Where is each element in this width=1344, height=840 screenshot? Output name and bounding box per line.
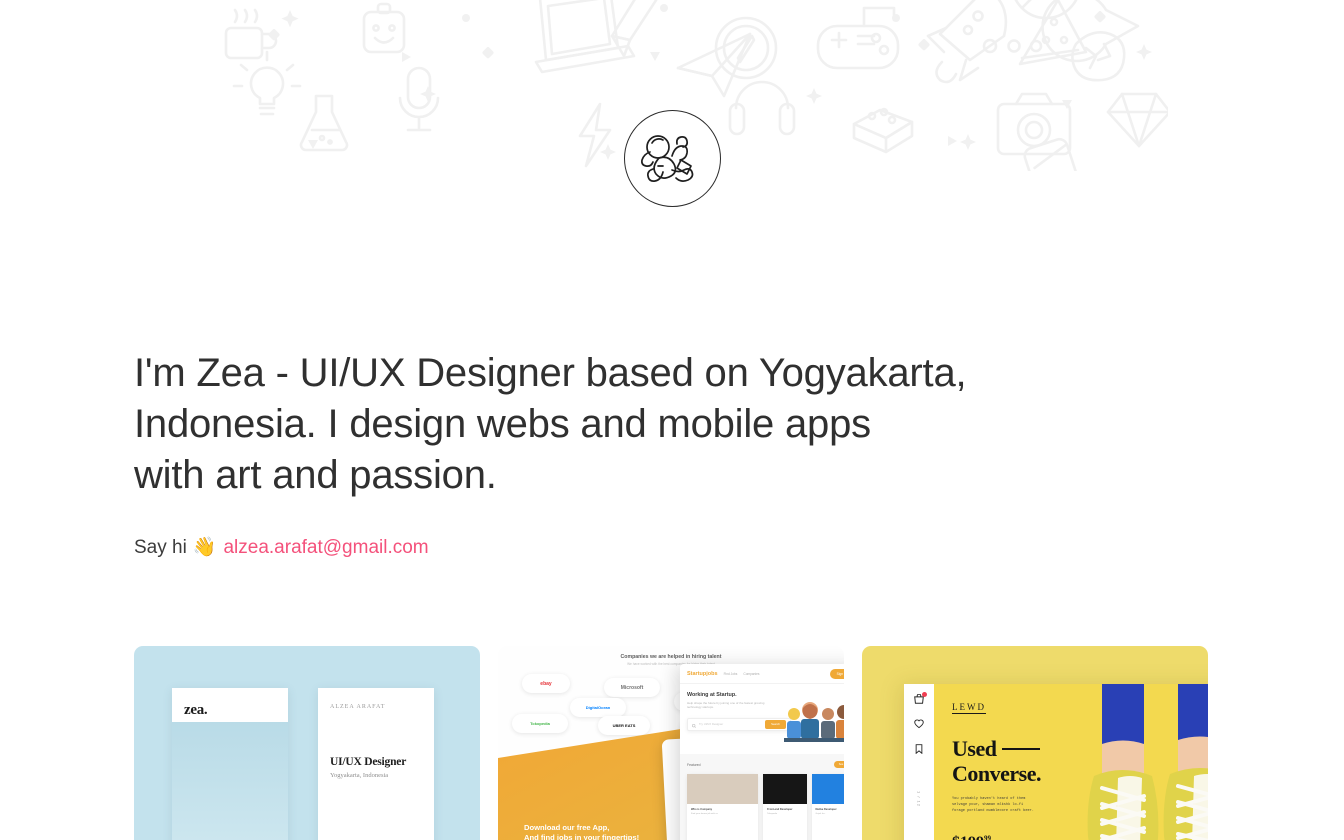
brand-mark: zea. (184, 702, 207, 719)
featured-header: Featured See more (687, 761, 844, 768)
pac-man-icon (1043, 0, 1138, 61)
nav-companies[interactable]: Companies (743, 672, 759, 676)
featured-tile-3[interactable]: Native Developer Gojek Inc. (812, 774, 844, 840)
tile-title: Who is Company (687, 804, 758, 811)
shop-content: LEWD Used Converse. You probably haven't… (934, 684, 1208, 840)
owner-name: ALZEA ARAFAT (330, 704, 385, 710)
business-card-front: zea. (172, 688, 288, 840)
astronaut-icon (639, 126, 705, 192)
lightbulb-icon (234, 52, 300, 114)
jobs-brand: Startupjobs (687, 671, 718, 677)
project-card-startup-jobs[interactable]: Companies we are helped in hiring talent… (498, 646, 844, 840)
tile-thumbnail (687, 774, 758, 804)
page-title: I'm Zea - UI/UX Designer based on Yogyak… (134, 348, 1124, 501)
price-value: $199 (952, 834, 984, 840)
hero-paragraph: Help shape the future by joining one of … (687, 701, 775, 710)
site-navbar: Startupjobs Find Jobs Companies Sign Up (680, 664, 844, 684)
say-hi-label: Say hi (134, 535, 187, 561)
product-headline-2: Converse. (952, 761, 1041, 786)
tile-subtitle: Find your dream job with us (687, 811, 758, 815)
tile-thumbnail (763, 774, 806, 804)
search-placeholder: Try UI/UX Designer (699, 722, 723, 726)
pizza-slice-icon (1020, 0, 1086, 64)
featured-more-button[interactable]: See more (834, 761, 844, 768)
project-card-grid: zea. ALZEA ARAFAT (134, 646, 1210, 840)
product-headline-1: Used (952, 736, 996, 761)
featured-section: Featured See more Who is Company Find yo… (680, 754, 844, 840)
project-card-personal-branding[interactable]: zea. ALZEA ARAFAT (134, 646, 480, 840)
crumpled-paper-icon (1072, 32, 1124, 80)
headline-line-2: with art and passion. (134, 450, 1124, 501)
shop-side-rail: 1 / 12 (904, 684, 934, 840)
email-link[interactable]: alzea.arafat@gmail.com (223, 535, 428, 561)
shopping-bag-icon[interactable] (914, 694, 924, 706)
product-headline: Used Converse. (952, 736, 1072, 786)
companies-heading: Companies we are helped in hiring talent (621, 654, 722, 660)
tile-title: Front-end Developer (763, 804, 806, 811)
headline-rule (1002, 748, 1040, 750)
shop-browser-mockup: 1 / 12 LEWD Used Converse. You probably … (904, 684, 1208, 840)
coffee-mug-icon (226, 10, 276, 58)
compass-icon (716, 18, 776, 78)
owner-role: UI/UX Designer (330, 756, 406, 768)
company-logo-ebay: ebay (522, 674, 570, 693)
headline-line-1: I'm Zea - UI/UX Designer based on Yogyak… (134, 351, 966, 446)
tile-subtitle: Tokopedia (763, 811, 806, 815)
owner-location: Yogyakarta, Indonesia (330, 772, 388, 779)
tile-thumbnail (812, 774, 844, 804)
search-icon (692, 715, 696, 733)
card-photo (172, 722, 288, 840)
laptop-icon (536, 0, 634, 72)
featured-tiles: Who is Company Find your dream job with … (687, 774, 844, 840)
contact-line: Say hi 👋 alzea.arafat@gmail.com (134, 535, 1134, 561)
featured-label: Featured (687, 763, 701, 767)
product-description: You probably haven't heard of them selva… (952, 796, 1036, 814)
product-price: $19999 (952, 834, 991, 840)
app-promo-copy: Download our free App, And find jobs in … (524, 823, 674, 840)
company-logo-ubereats: UBER EATS (598, 716, 650, 735)
app-headline-2: And find jobs in your fingertips! (524, 833, 674, 840)
heart-icon[interactable] (914, 719, 924, 731)
rocket-icon (928, 0, 1006, 82)
featured-tile-1[interactable]: Who is Company Find your dream job with … (687, 774, 758, 840)
intro-section: I'm Zea - UI/UX Designer based on Yogyak… (134, 348, 1134, 561)
lego-head-icon (364, 4, 404, 52)
logo-circle (624, 110, 721, 207)
pac-dots (984, 40, 1041, 52)
job-search-bar[interactable]: Try UI/UX Designer Search (687, 718, 791, 731)
featured-tile-2[interactable]: Front-end Developer Tokopedia (763, 774, 806, 840)
nav-signup-button[interactable]: Sign Up (830, 669, 844, 679)
cd-disc-icon (1012, 0, 1080, 18)
browser-mockup: Startupjobs Find Jobs Companies Sign Up … (680, 664, 844, 840)
bookmark-icon[interactable] (914, 744, 924, 756)
portfolio-page: I'm Zea - UI/UX Designer based on Yogyak… (0, 0, 1344, 840)
site-logo[interactable] (0, 110, 1344, 207)
team-illustration (784, 698, 844, 742)
company-logo-microsoft: Microsoft (604, 678, 660, 697)
nav-find-jobs[interactable]: Find Jobs (724, 672, 738, 676)
waving-hand-icon: 👋 (193, 535, 217, 561)
gamepad-icon (818, 8, 898, 68)
company-logo-tokopedia: Tokopedia (512, 714, 568, 733)
shop-brand: LEWD (952, 702, 986, 714)
pencil-icon (612, 0, 664, 56)
jobs-hero: Working at Startup. Help shape the futur… (680, 684, 844, 754)
business-card-back: ALZEA ARAFAT UI/UX Designer Yogyakarta, … (318, 688, 434, 840)
paper-plane-icon (678, 34, 750, 96)
price-cents: 99 (984, 835, 991, 840)
app-headline-1: Download our free App, (524, 823, 674, 833)
tile-title: Native Developer (812, 804, 844, 811)
company-logo-digitalocean: DigitalOcean (570, 698, 626, 717)
cart-badge (922, 692, 927, 697)
project-card-used-converse[interactable]: 1 / 12 LEWD Used Converse. You probably … (862, 646, 1208, 840)
search-button[interactable]: Search (765, 720, 786, 729)
shop-pagination: 1 / 12 (917, 791, 922, 807)
converse-shoes-photo (1072, 684, 1208, 840)
tile-subtitle: Gojek Inc. (812, 811, 844, 815)
